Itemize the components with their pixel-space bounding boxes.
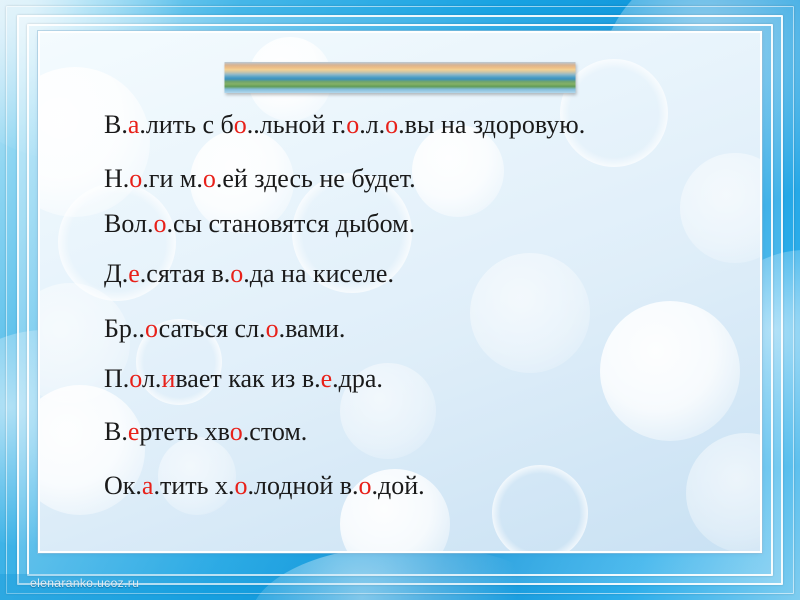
missing-letter-answer: и <box>161 364 175 393</box>
line-text-segment: ртеть хв <box>139 417 229 446</box>
presentation-slide: ФРАЗЕОЛОГИЗМЫ В.а.лить с бо..льной г.о.л… <box>0 0 800 600</box>
exercise-line: Д.е.сятая в.о.да на киселе. <box>104 260 744 288</box>
line-text-segment: В. <box>104 417 128 446</box>
line-text-segment: .тить х. <box>153 471 234 500</box>
missing-letter-answer: е <box>321 364 333 393</box>
missing-letter-answer: о <box>203 164 216 193</box>
line-text-segment: .вами. <box>279 314 346 343</box>
line-text-segment: В. <box>104 110 128 139</box>
line-text-segment: вает как из в. <box>175 364 320 393</box>
exercise-line: В.ертеть хво.стом. <box>104 418 744 446</box>
line-text-segment: .дра. <box>332 364 383 393</box>
missing-letter-answer: о <box>234 471 247 500</box>
line-text-segment: Вол. <box>104 209 153 238</box>
exercise-line: Н.о.ги м.о.ей здесь не будет. <box>104 165 744 193</box>
missing-letter-answer: о <box>129 164 142 193</box>
missing-letter-answer: о <box>230 417 243 446</box>
missing-letter-answer: о <box>234 110 247 139</box>
exercise-line: Вол.о.сы становятся дыбом. <box>104 210 744 238</box>
line-text-segment: .лодной в. <box>247 471 358 500</box>
line-text-segment: .сы становятся дыбом. <box>166 209 415 238</box>
frame-light-blob <box>250 545 570 600</box>
line-text-segment: саться сл. <box>159 314 266 343</box>
line-text-segment: .стом. <box>243 417 308 446</box>
line-text-segment: .лить с б <box>139 110 233 139</box>
exercise-line-list: В.а.лить с бо..льной г.о.л.о.вы на здоро… <box>104 111 744 499</box>
missing-letter-answer: а <box>128 110 140 139</box>
line-text-segment: .вы на здоровую. <box>398 110 585 139</box>
missing-letter-answer: о <box>145 314 159 343</box>
missing-letter-answer: о <box>129 364 142 393</box>
line-text-segment: .сятая в. <box>140 259 230 288</box>
source-watermark: elenaranko.ucoz.ru <box>30 576 139 590</box>
line-text-segment: Бр.. <box>104 314 145 343</box>
line-text-segment: л. <box>142 364 161 393</box>
missing-letter-answer: о <box>359 471 372 500</box>
exercise-line: Бр..осаться сл.о.вами. <box>104 315 744 343</box>
missing-letter-answer: о <box>230 259 243 288</box>
watermark-strip <box>0 574 800 600</box>
line-text-segment: Ок. <box>104 471 142 500</box>
line-text-segment: П. <box>104 364 129 393</box>
line-text-segment: .да на киселе. <box>243 259 394 288</box>
missing-letter-answer: о <box>153 209 166 238</box>
missing-letter-answer: о <box>385 110 398 139</box>
line-text-segment: .ей здесь не будет. <box>216 164 416 193</box>
line-text-segment: ..льной г. <box>247 110 346 139</box>
line-text-segment: Н. <box>104 164 129 193</box>
title-photo-fill-plate <box>225 62 576 93</box>
line-text-segment: Д. <box>104 259 128 288</box>
exercise-line: Ок.а.тить х.о.лодной в.о.дой. <box>104 472 744 500</box>
missing-letter-answer: е <box>128 259 140 288</box>
line-text-segment: .ги м. <box>142 164 203 193</box>
missing-letter-answer: а <box>142 471 154 500</box>
exercise-line: В.а.лить с бо..льной г.о.л.о.вы на здоро… <box>104 111 744 139</box>
slide-content-panel: ФРАЗЕОЛОГИЗМЫ В.а.лить с бо..льной г.о.л… <box>40 33 760 551</box>
line-text-segment: .дой. <box>372 471 425 500</box>
missing-letter-answer: е <box>128 417 140 446</box>
slide-title-container: ФРАЗЕОЛОГИЗМЫ <box>40 57 760 96</box>
missing-letter-answer: о <box>266 314 279 343</box>
line-text-segment: .л. <box>359 110 385 139</box>
exercise-line: П.ол.ивает как из в.е.дра. <box>104 365 744 393</box>
missing-letter-answer: о <box>346 110 359 139</box>
